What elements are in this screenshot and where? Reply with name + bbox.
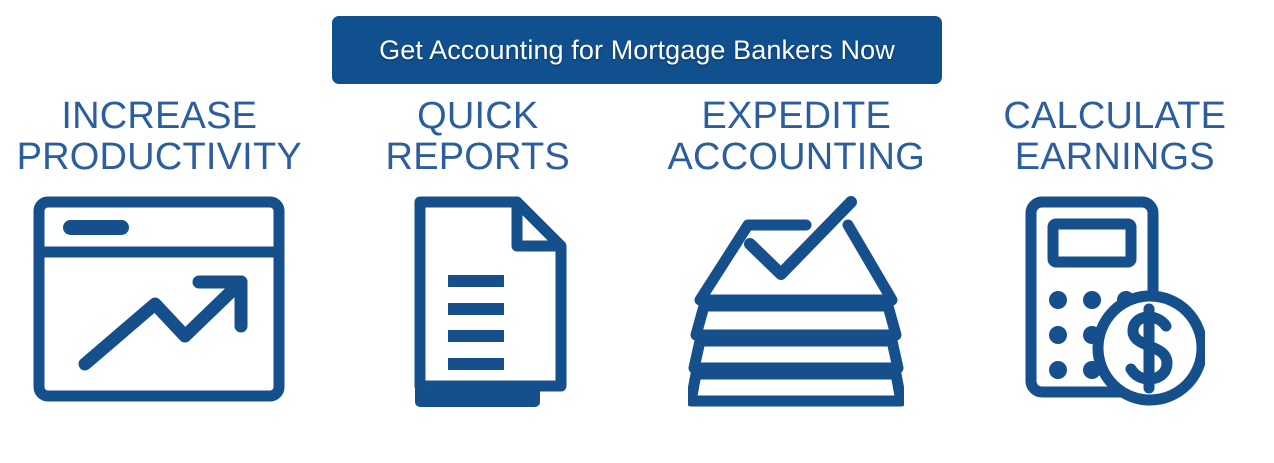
browser-chart-icon [33, 196, 285, 402]
feature-title-increase-productivity: INCREASE PRODUCTIVITY [17, 96, 302, 184]
feature-title-line1: QUICK [386, 96, 570, 137]
feature-title-line2: REPORTS [386, 137, 570, 178]
feature-title-line1: INCREASE [17, 96, 302, 137]
feature-title-quick-reports: QUICK REPORTS [386, 96, 570, 184]
feature-title-calculate-earnings: CALCULATE EARNINGS [1003, 96, 1226, 184]
calculator-dollar-icon [1025, 196, 1205, 408]
feature-column-expedite-accounting: EXPEDITE ACCOUNTING [637, 96, 956, 408]
feature-column-quick-reports: QUICK REPORTS [319, 96, 638, 408]
feature-title-line2: PRODUCTIVITY [17, 137, 302, 178]
layered-stack-check-icon [688, 196, 904, 408]
feature-column-calculate-earnings: CALCULATE EARNINGS [956, 96, 1274, 408]
feature-column-increase-productivity: INCREASE PRODUCTIVITY [0, 96, 319, 402]
cta-row: Get Accounting for Mortgage Bankers Now [0, 0, 1274, 96]
feature-columns: INCREASE PRODUCTIVITY QUICK REPORTS [0, 96, 1274, 463]
feature-title-line1: EXPEDITE [668, 96, 925, 137]
feature-title-line2: ACCOUNTING [668, 137, 925, 178]
cta-button-label: Get Accounting for Mortgage Bankers Now [379, 35, 895, 66]
feature-title-expedite-accounting: EXPEDITE ACCOUNTING [668, 96, 925, 184]
feature-title-line2: EARNINGS [1003, 137, 1226, 178]
documents-icon [385, 196, 571, 408]
get-accounting-cta-button[interactable]: Get Accounting for Mortgage Bankers Now [332, 16, 942, 84]
feature-title-line1: CALCULATE [1003, 96, 1226, 137]
